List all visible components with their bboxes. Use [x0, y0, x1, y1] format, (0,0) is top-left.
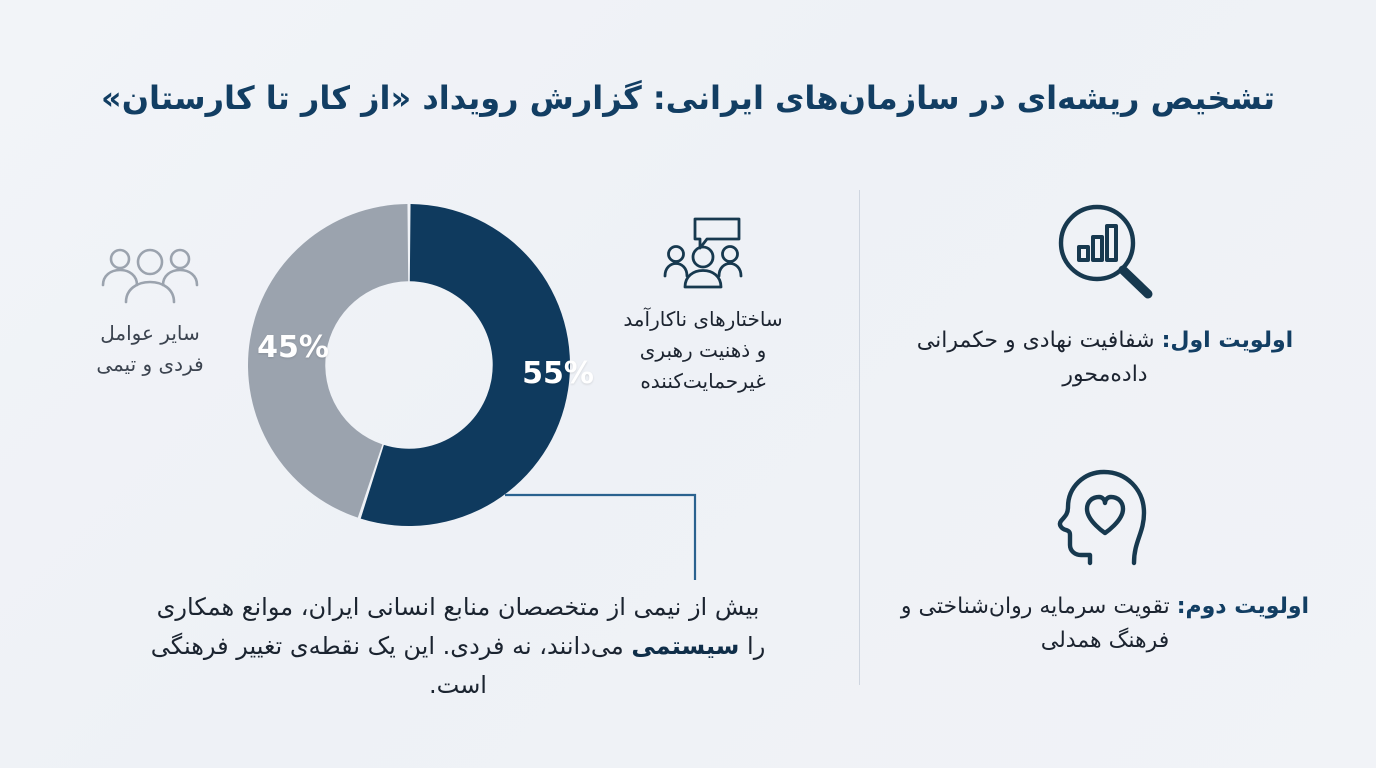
priority-1-icon-wrap [895, 196, 1315, 306]
caption-emphasis: سیستمی [631, 632, 739, 660]
donut-chart: 45% 55% [248, 190, 570, 540]
chart-legend-right: ساختارهای ناکارآمد و ذهنیت رهبری غیرحمای… [578, 216, 828, 397]
priority-1-text: اولویت اول: شفافیت نهادی و حکمرانی داده‌… [895, 324, 1315, 392]
people-speech-bubble-icon [663, 216, 743, 290]
chart-caption: بیش از نیمی از متخصصان منابع انسانی ایرا… [148, 588, 768, 705]
chart-legend-left: سایر عوامل فردی و تیمی [55, 246, 245, 380]
caption-part2: می‌دانند، نه فردی. این یک نقطه‌ی تغییر ف… [151, 632, 632, 699]
legend-left-line1: سایر عوامل [55, 318, 245, 349]
infographic-canvas: تشخیص ریشه‌ای در سازمان‌های ایرانی: گزار… [0, 0, 1376, 768]
head-heart-icon [1056, 467, 1154, 567]
people-group-icon [98, 246, 202, 304]
section-divider [859, 190, 860, 685]
priority-item-2: اولویت دوم: تقویت سرمایه روان‌شناختی و ف… [895, 462, 1315, 658]
page-title: تشخیص ریشه‌ای در سازمان‌های ایرانی: گزار… [0, 78, 1376, 119]
priority-1-lead: اولویت اول: [1162, 328, 1294, 353]
priority-2-text: اولویت دوم: تقویت سرمایه روان‌شناختی و ف… [895, 590, 1315, 658]
chart-legend-right-text: ساختارهای ناکارآمد و ذهنیت رهبری غیرحمای… [578, 304, 828, 397]
priority-item-1: اولویت اول: شفافیت نهادی و حکمرانی داده‌… [895, 196, 1315, 392]
priority-2-body: تقویت سرمایه روان‌شناختی و فرهنگ همدلی [901, 594, 1177, 653]
priority-2-icon-wrap [895, 462, 1315, 572]
legend-right-line3: غیرحمایت‌کننده [578, 366, 828, 397]
chart-legend-left-text: سایر عوامل فردی و تیمی [55, 318, 245, 380]
legend-right-line2: و ذهنیت رهبری [578, 335, 828, 366]
slice-value-gray: 45% [253, 330, 333, 365]
magnifier-bar-chart-icon [1053, 201, 1157, 301]
legend-right-line1: ساختارهای ناکارآمد [578, 304, 828, 335]
legend-left-line2: فردی و تیمی [55, 349, 245, 380]
priority-1-body: شفافیت نهادی و حکمرانی داده‌محور [917, 328, 1162, 387]
priority-2-lead: اولویت دوم: [1177, 594, 1309, 619]
